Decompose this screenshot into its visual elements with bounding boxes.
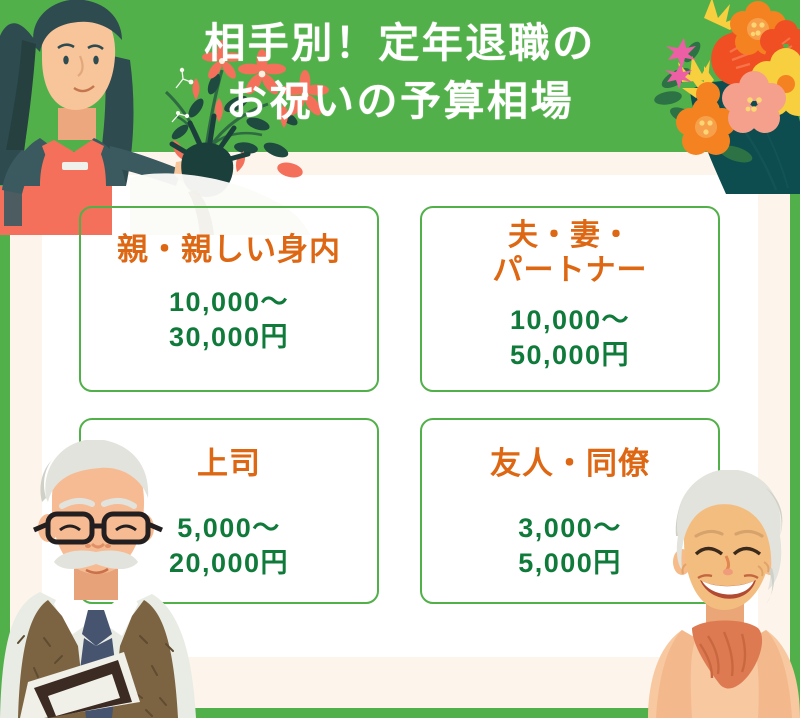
budget-card-parents-close-relatives[interactable]: 親・親しい身内 10,000〜 30,000円: [79, 206, 379, 392]
card-heading: 親・親しい身内: [81, 232, 377, 269]
card-amount: 3,000〜 5,000円: [422, 511, 718, 582]
card-amount: 10,000〜 50,000円: [422, 303, 718, 374]
budget-card-grid: 親・親しい身内 10,000〜 30,000円 夫・妻・ パートナー 10,00…: [42, 175, 758, 657]
budget-card-boss[interactable]: 上司 5,000〜 20,000円: [79, 418, 379, 604]
budget-card-friend-colleague[interactable]: 友人・同僚 3,000〜 5,000円: [420, 418, 720, 604]
card-heading: 上司: [81, 446, 377, 483]
card-heading: 夫・妻・ パートナー: [422, 218, 718, 289]
budget-card-spouse-partner[interactable]: 夫・妻・ パートナー 10,000〜 50,000円: [420, 206, 720, 392]
card-amount: 10,000〜 30,000円: [81, 285, 377, 356]
header-band: [0, 0, 800, 152]
retirement-gift-budget-infographic: 親・親しい身内 10,000〜 30,000円 夫・妻・ パートナー 10,00…: [0, 0, 800, 718]
card-heading: 友人・同僚: [422, 446, 718, 483]
card-amount: 5,000〜 20,000円: [81, 511, 377, 582]
